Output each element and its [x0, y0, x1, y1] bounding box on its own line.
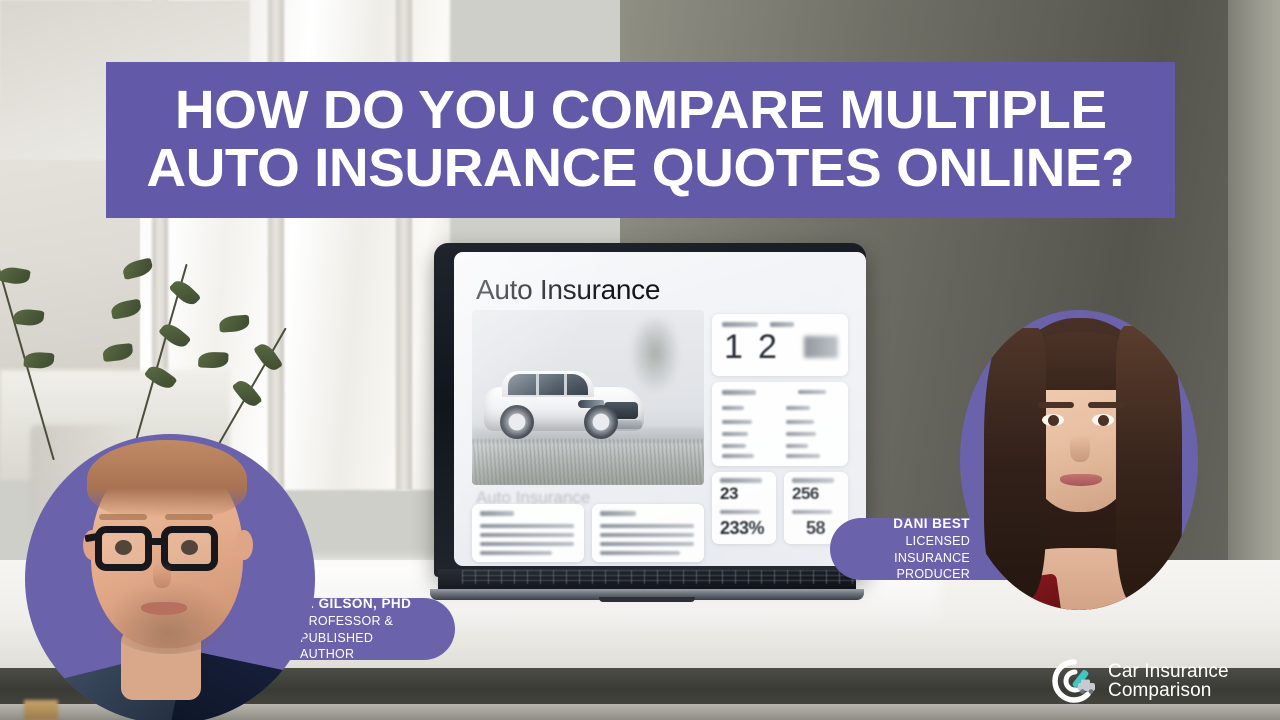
title-line-2: AUTO INSURANCE QUOTES ONLINE? — [147, 141, 1135, 197]
screen-stat-number-2: 2 — [758, 328, 777, 367]
presenter-role-left-line1: PROFESSOR & PUBLISHED — [300, 613, 439, 646]
title-banner: HOW DO YOU COMPARE MULTIPLE AUTO INSURAN… — [106, 62, 1175, 218]
logo-wordmark: Car Insurance Comparison — [1108, 662, 1229, 701]
logo-line-1: Car Insurance — [1108, 662, 1229, 681]
screen-metric-card: 23 233% — [712, 472, 776, 544]
thumbnail-canvas: Auto Insurance — [0, 0, 1280, 720]
laptop-lid: Auto Insurance — [434, 243, 866, 577]
screen-stat-top-card: 1 2 — [712, 314, 848, 376]
avatar-dani-best — [960, 310, 1198, 610]
screen-metric-subvalue: 58 — [806, 518, 825, 539]
presenter-role-right-line2: PRODUCER — [896, 566, 970, 583]
laptop: Auto Insurance — [424, 243, 870, 603]
logo-line-2: Comparison — [1108, 681, 1229, 700]
screen-list-card — [712, 382, 848, 466]
screen-metric-value: 256 — [792, 484, 819, 504]
wall-right-edge — [1228, 0, 1280, 600]
presenter-role-right-line1: LICENSED INSURANCE — [848, 533, 970, 566]
screen-heading: Auto Insurance — [476, 274, 660, 306]
brand-logo: Car Insurance Comparison — [1048, 652, 1266, 710]
laptop-screen: Auto Insurance — [454, 252, 866, 566]
title-line-1: HOW DO YOU COMPARE MULTIPLE — [175, 83, 1107, 139]
screen-text-card — [592, 504, 704, 562]
laptop-base — [424, 569, 870, 603]
car-illustration — [484, 367, 644, 441]
screen-metric-value: 23 — [720, 484, 738, 504]
presenter-name-right: DANI BEST — [893, 515, 970, 533]
screen-stat-number-1: 1 — [724, 328, 743, 367]
hero-grass — [472, 439, 704, 485]
avatar-d-gilson — [25, 434, 315, 720]
screen-text-card — [472, 504, 584, 562]
logo-c-ring-car-icon — [1048, 657, 1100, 705]
plant-stem — [0, 231, 83, 469]
laptop-notch — [599, 597, 695, 602]
laptop-keyboard — [438, 569, 856, 591]
keyboard-keys — [462, 570, 860, 584]
hero-car-image — [472, 310, 704, 485]
screen-metric-subvalue: 233% — [720, 518, 764, 539]
presenter-name-left: D. GILSON, PHD — [300, 595, 411, 613]
